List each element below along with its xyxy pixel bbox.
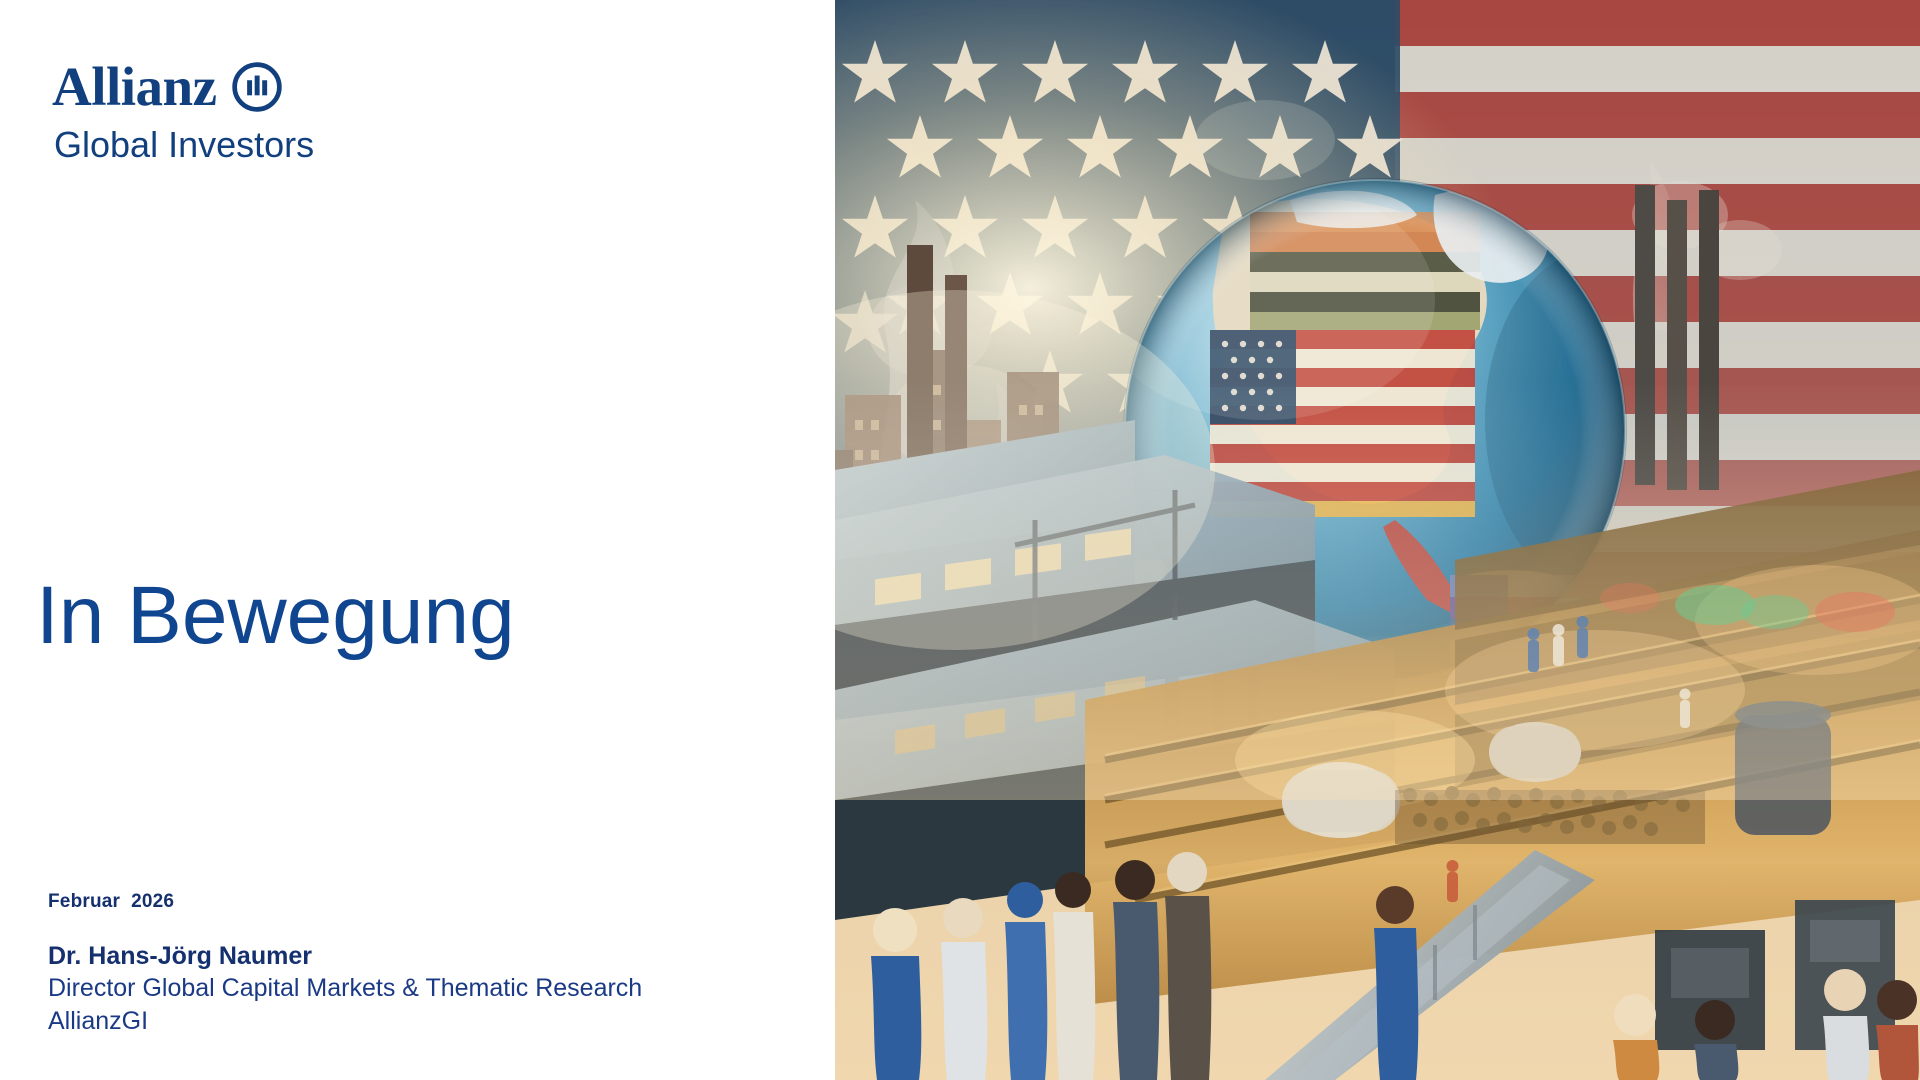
presenter-role: Director Global Capital Markets & Themat… [48,972,642,1005]
title-slide: Allianz Global Investors In Bewegung Feb… [0,0,1920,1080]
presenter-org: AllianzGI [48,1005,642,1038]
presentation-date: Februar 2026 [48,890,642,914]
worker-figure [871,908,921,1080]
worker-figure [1823,969,1869,1080]
presenter-name: Dr. Hans-Jörg Naumer [48,940,642,972]
allianz-bars-circle-icon [231,61,283,113]
presenter-meta: Februar 2026 Dr. Hans-Jörg Naumer Direct… [48,890,642,1038]
brand-wordmark: Allianz [52,59,217,115]
brand-subtitle: Global Investors [54,125,382,165]
worker-figure [941,898,987,1080]
cover-artwork [835,0,1920,1080]
cover-artwork-illustration [835,0,1920,1080]
brand-logo-row: Allianz [52,58,382,116]
page-title: In Bewegung [36,570,515,662]
left-content-column: Allianz Global Investors In Bewegung Feb… [0,0,835,1080]
brand-logo: Allianz Global Investors [52,58,382,165]
worker-figure [1876,980,1919,1080]
